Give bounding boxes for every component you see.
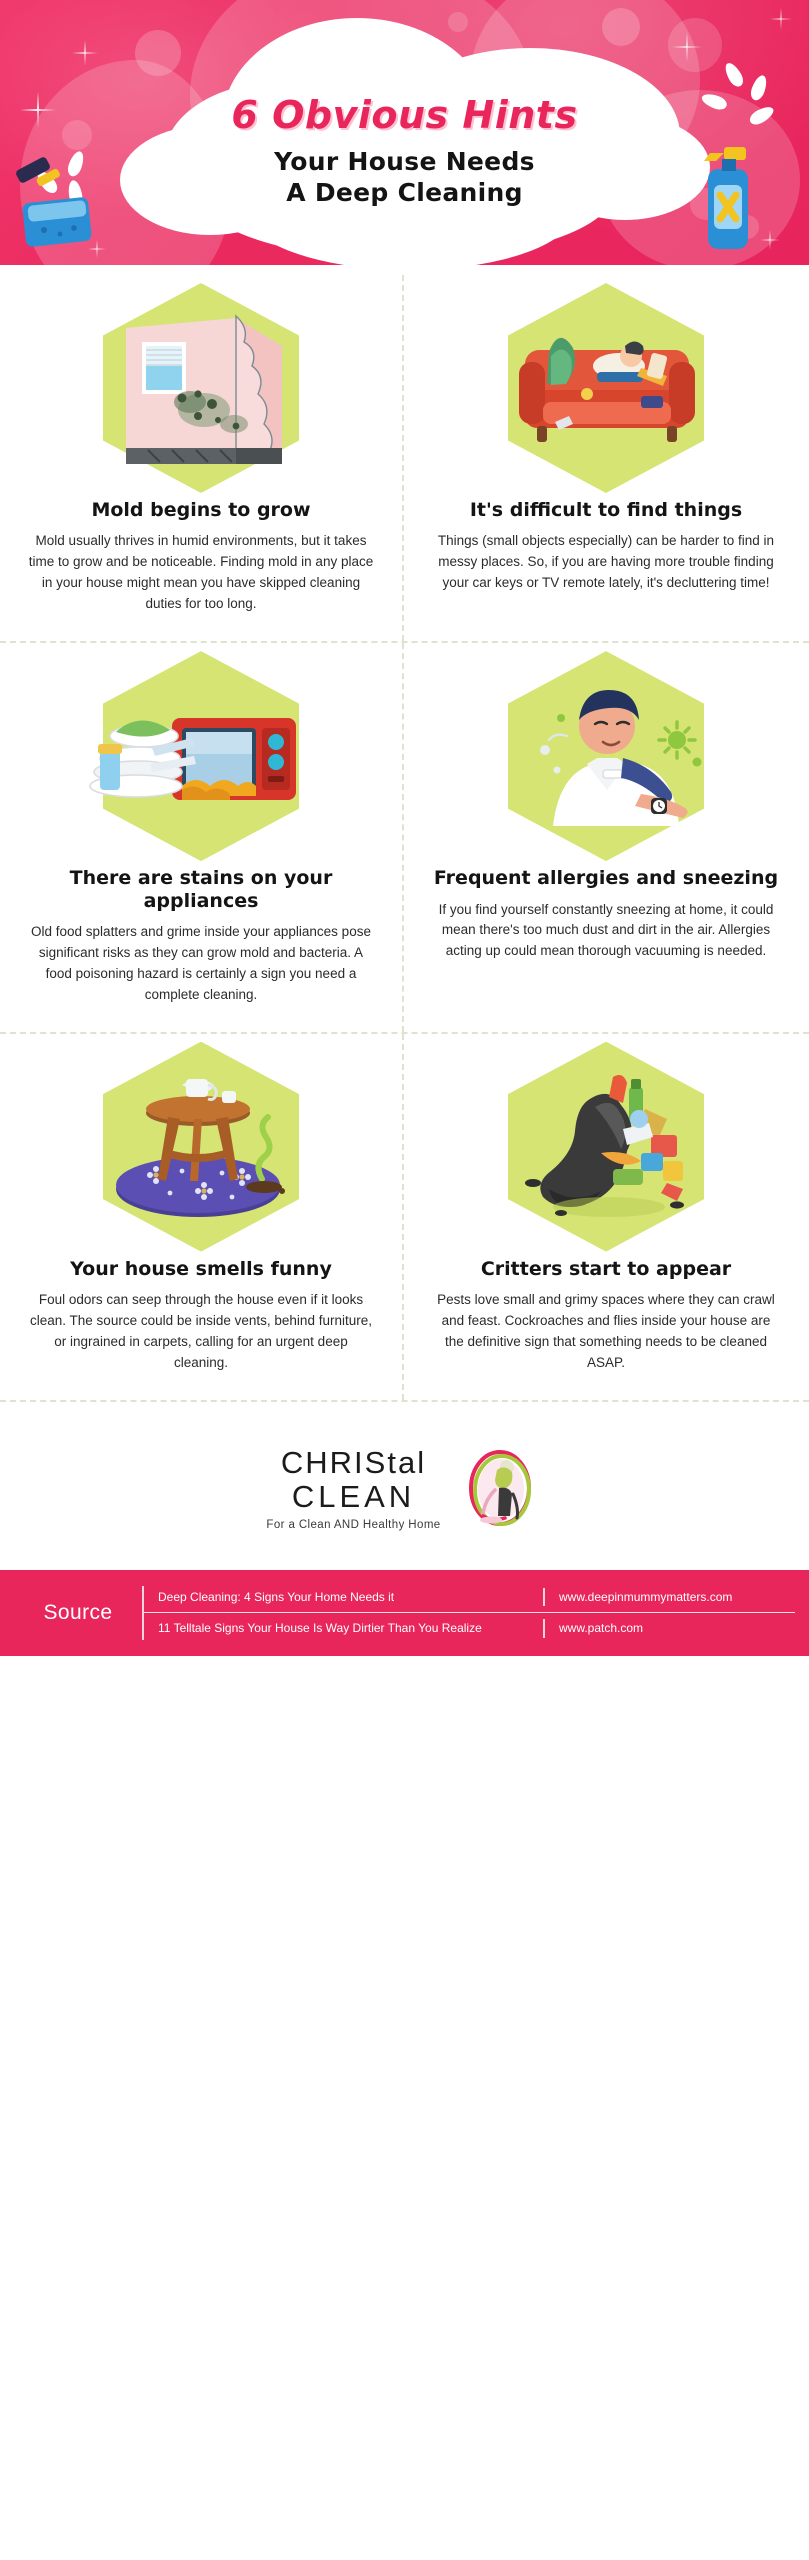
hints-row: Mold begins to grow Mold usually thrives… bbox=[0, 275, 809, 641]
hints-grid: Mold begins to grow Mold usually thrives… bbox=[0, 265, 809, 1400]
sneezing-man-illustration bbox=[491, 666, 721, 846]
sparkle-icon bbox=[760, 230, 780, 250]
page-subtitle-line2: A Deep Cleaning bbox=[0, 177, 809, 208]
source-bar: Source Deep Cleaning: 4 Signs Your Home … bbox=[0, 1570, 809, 1656]
cleaning-lady-logo-mark bbox=[457, 1446, 543, 1532]
logo-wordmark: CHRIStal CLEAN For a Clean AND Healthy H… bbox=[266, 1447, 440, 1531]
sparkle-icon bbox=[770, 8, 792, 30]
logo-tagline: For a Clean AND Healthy Home bbox=[266, 1519, 440, 1531]
logo-line-2: CLEAN bbox=[266, 1479, 440, 1515]
hint-title: Critters start to appear bbox=[426, 1258, 786, 1280]
hints-row: Your house smells funny Foul odors can s… bbox=[0, 1032, 809, 1400]
hint-body: If you find yourself constantly sneezing… bbox=[432, 900, 780, 963]
page-title: 6 Obvious Hints bbox=[0, 96, 809, 136]
bubble-icon bbox=[448, 12, 468, 32]
illustration-allergies bbox=[426, 661, 786, 851]
header-title-group: 6 Obvious Hints Your House Needs A Deep … bbox=[0, 96, 809, 208]
hint-title: Frequent allergies and sneezing bbox=[426, 867, 786, 889]
hint-card-mold: Mold begins to grow Mold usually thrives… bbox=[0, 275, 404, 641]
hint-card-critters: Critters start to appear Pests love smal… bbox=[404, 1034, 808, 1400]
source-url[interactable]: www.patch.com bbox=[545, 1621, 795, 1635]
source-title: 11 Telltale Signs Your House Is Way Dirt… bbox=[144, 1620, 543, 1636]
source-title: Deep Cleaning: 4 Signs Your Home Needs i… bbox=[144, 1589, 543, 1605]
hint-title: There are stains on your appliances bbox=[22, 867, 380, 912]
hint-title: Mold begins to grow bbox=[22, 499, 380, 521]
source-url[interactable]: www.deepinmummymatters.com bbox=[545, 1590, 795, 1604]
source-label: Source bbox=[14, 1582, 142, 1644]
hint-title: It's difficult to find things bbox=[426, 499, 786, 521]
hint-card-smells: Your house smells funny Foul odors can s… bbox=[0, 1034, 404, 1400]
hint-body: Pests love small and grimy spaces where … bbox=[432, 1290, 780, 1374]
hint-body: Foul odors can seep through the house ev… bbox=[27, 1290, 375, 1374]
brand-logo-section: CHRIStal CLEAN For a Clean AND Healthy H… bbox=[0, 1400, 809, 1570]
source-row: 11 Telltale Signs Your House Is Way Dirt… bbox=[144, 1612, 795, 1644]
smelly-rug-table-illustration bbox=[86, 1057, 316, 1237]
overflowing-trash-bag-illustration bbox=[491, 1057, 721, 1237]
bubble-icon bbox=[602, 8, 640, 46]
hint-card-find-things: It's difficult to find things Things (sm… bbox=[404, 275, 808, 641]
source-row: Deep Cleaning: 4 Signs Your Home Needs i… bbox=[144, 1582, 795, 1613]
messy-sofa-illustration bbox=[491, 298, 721, 478]
sparkle-icon bbox=[72, 40, 98, 66]
illustration-mold bbox=[22, 293, 380, 483]
dirty-microwave-dishes-illustration bbox=[86, 666, 316, 846]
hints-row: There are stains on your appliances Old … bbox=[0, 641, 809, 1032]
hint-title: Your house smells funny bbox=[22, 1258, 380, 1280]
source-table: Deep Cleaning: 4 Signs Your Home Needs i… bbox=[144, 1582, 795, 1644]
hint-body: Old food splatters and grime inside your… bbox=[27, 922, 375, 1006]
hint-body: Mold usually thrives in humid environmen… bbox=[27, 531, 375, 615]
infographic-page: 6 Obvious Hints Your House Needs A Deep … bbox=[0, 0, 809, 2560]
bubble-icon bbox=[135, 30, 181, 76]
hint-card-appliance-stains: There are stains on your appliances Old … bbox=[0, 643, 404, 1032]
illustration-critters bbox=[426, 1052, 786, 1242]
sparkle-icon bbox=[672, 32, 702, 62]
hint-body: Things (small objects especially) can be… bbox=[432, 531, 780, 594]
logo-line-1: CHRIStal bbox=[266, 1447, 440, 1480]
illustration-appliance-stains bbox=[22, 661, 380, 851]
header-banner: 6 Obvious Hints Your House Needs A Deep … bbox=[0, 0, 809, 265]
hint-card-allergies: Frequent allergies and sneezing If you f… bbox=[404, 643, 808, 1032]
moldy-wall-room-illustration bbox=[86, 298, 316, 478]
illustration-find-things bbox=[426, 293, 786, 483]
page-subtitle-line1: Your House Needs bbox=[0, 146, 809, 177]
illustration-smells bbox=[22, 1052, 380, 1242]
